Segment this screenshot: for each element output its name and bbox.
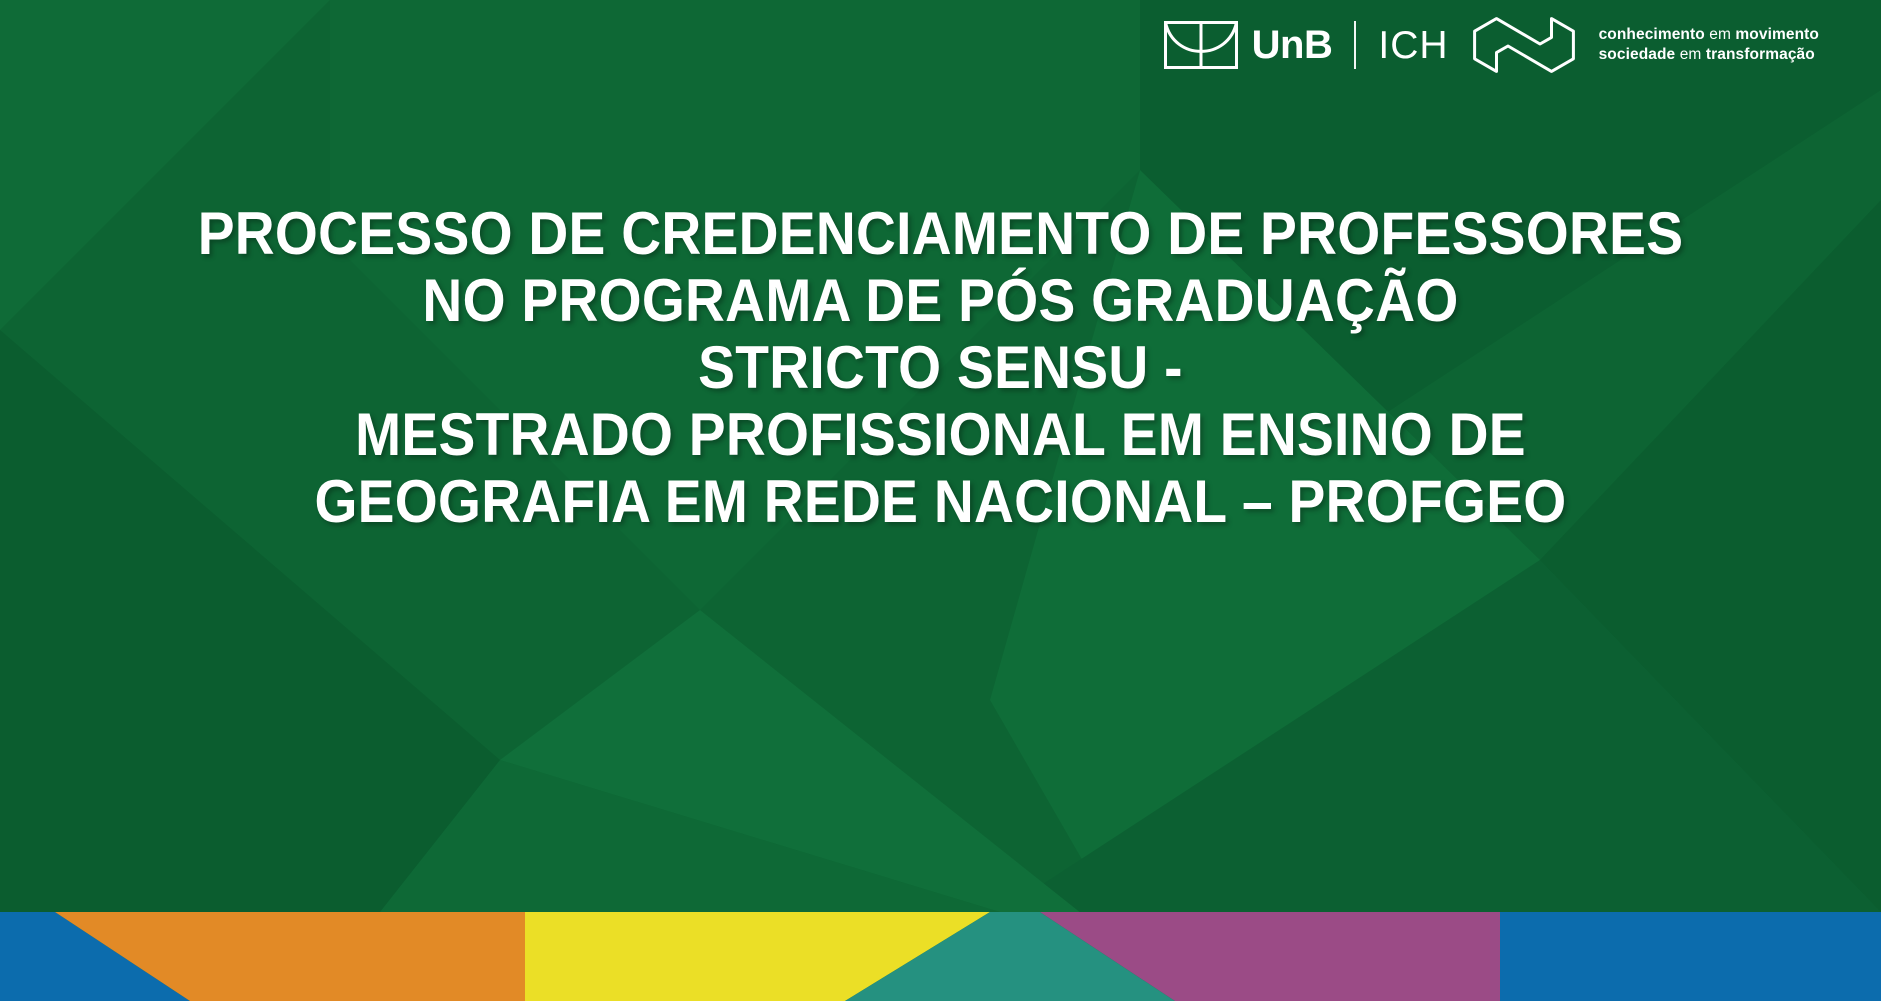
ich-tagline: conhecimento em movimento sociedade em t… (1599, 25, 1819, 65)
tagline-line-1: conhecimento em movimento (1599, 25, 1819, 45)
tagline-word-movimento: movimento (1735, 26, 1819, 43)
slide-title: PROCESSO DE CREDENCIAMENTO DE PROFESSORE… (0, 200, 1881, 535)
ich-hexagon-icon (1473, 17, 1575, 73)
tagline-word-transformacao: transformação (1706, 46, 1815, 63)
bottom-color-bar (0, 912, 1881, 1001)
unb-logo-icon (1164, 21, 1238, 69)
logo-divider (1354, 21, 1356, 69)
header-logo-bar: UnB ICH conhecimento em movimento socied… (1164, 16, 1819, 74)
tagline-word-conhecimento: conhecimento (1599, 26, 1705, 43)
unb-lockup: UnB (1164, 21, 1333, 69)
ich-lockup: ICH conhecimento em movimento sociedade … (1378, 17, 1819, 73)
ich-wordmark: ICH (1378, 26, 1448, 65)
title-line-4: MESTRADO PROFISSIONAL EM ENSINO DE (75, 401, 1806, 468)
tagline-word-em-1: em (1709, 26, 1731, 43)
title-line-5: GEOGRAFIA EM REDE NACIONAL – PROFGEO (75, 468, 1806, 535)
tagline-line-2: sociedade em transformação (1599, 45, 1819, 65)
tagline-word-em-2: em (1680, 46, 1702, 63)
title-line-2: NO PROGRAMA DE PÓS GRADUAÇÃO (75, 267, 1806, 334)
title-line-1: PROCESSO DE CREDENCIAMENTO DE PROFESSORE… (75, 200, 1806, 267)
tagline-word-sociedade: sociedade (1599, 46, 1676, 63)
title-line-3: STRICTO SENSU - (75, 334, 1806, 401)
presentation-slide: UnB ICH conhecimento em movimento socied… (0, 0, 1881, 1001)
bar-segment-blue-right (1500, 912, 1881, 1001)
unb-wordmark: UnB (1252, 25, 1333, 65)
